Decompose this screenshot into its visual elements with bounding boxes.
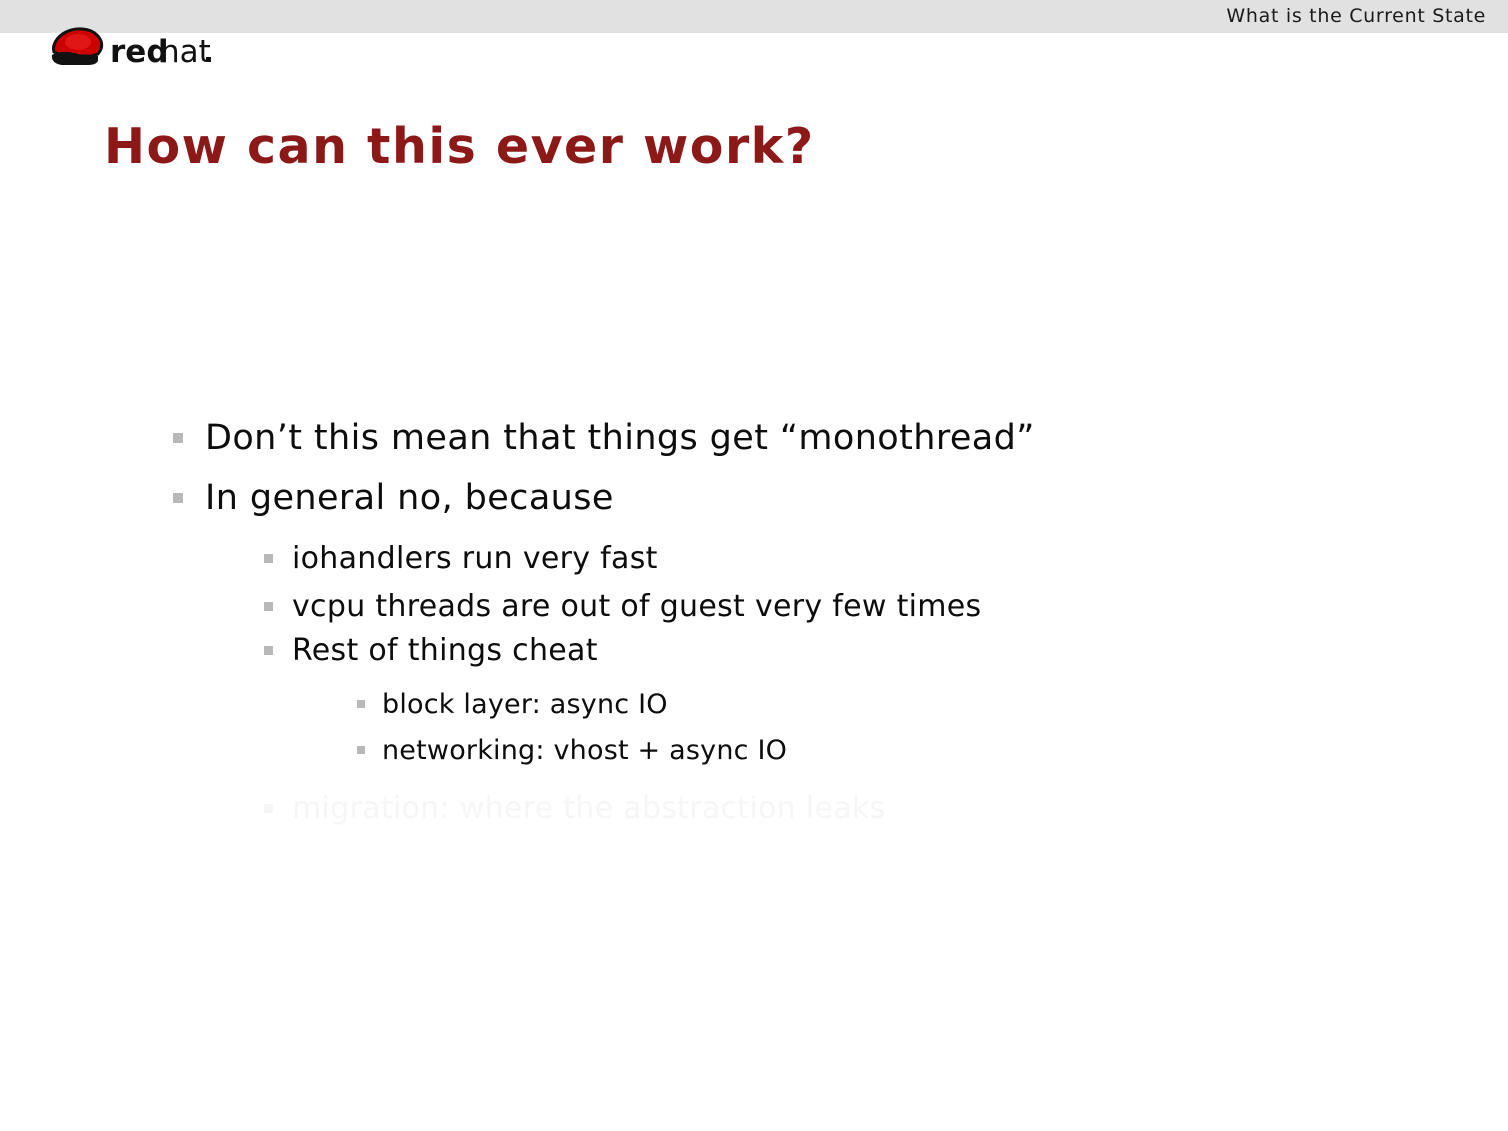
logo-period [206, 57, 211, 62]
list-item: Don’t this mean that things get “monothr… [173, 418, 1035, 458]
bullet-square-icon [357, 746, 365, 754]
list-item: networking: vhost + async IO [357, 735, 787, 766]
bullet-square-icon [264, 602, 273, 611]
redhat-shadowman-icon [52, 29, 102, 65]
section-title: What is the Current State [1226, 5, 1486, 27]
list-item: iohandlers run very fast [264, 541, 658, 576]
list-item: vcpu threads are out of guest very few t… [264, 589, 982, 624]
bullet-square-icon [264, 554, 273, 563]
list-item-label: block layer: async IO [382, 689, 668, 720]
list-item-hidden: migration: where the abstraction leaks [264, 791, 886, 826]
bullet-square-icon [264, 646, 273, 655]
list-item-label: Rest of things cheat [292, 633, 598, 668]
list-item-label: Don’t this mean that things get “monothr… [205, 418, 1035, 458]
logo-wordmark-hat: hat [160, 34, 211, 70]
bullet-square-icon [173, 433, 183, 443]
bullet-square-icon [173, 493, 183, 503]
list-item: Rest of things cheat [264, 633, 598, 668]
list-item-label: migration: where the abstraction leaks [292, 791, 886, 826]
list-item-label: In general no, because [205, 478, 614, 518]
redhat-logo-svg: red hat [48, 26, 248, 74]
list-item: block layer: async IO [357, 689, 668, 720]
bullet-square-icon [357, 700, 365, 708]
list-item-label: vcpu threads are out of guest very few t… [292, 589, 982, 624]
list-item-label: networking: vhost + async IO [382, 735, 787, 766]
presentation-slide: What is the Current State red hat How ca… [0, 0, 1508, 1131]
redhat-logo: red hat [48, 26, 248, 74]
bullet-square-icon [264, 804, 273, 813]
list-item: In general no, because [173, 478, 614, 518]
list-item-label: iohandlers run very fast [292, 541, 658, 576]
page-title: How can this ever work? [104, 118, 815, 175]
